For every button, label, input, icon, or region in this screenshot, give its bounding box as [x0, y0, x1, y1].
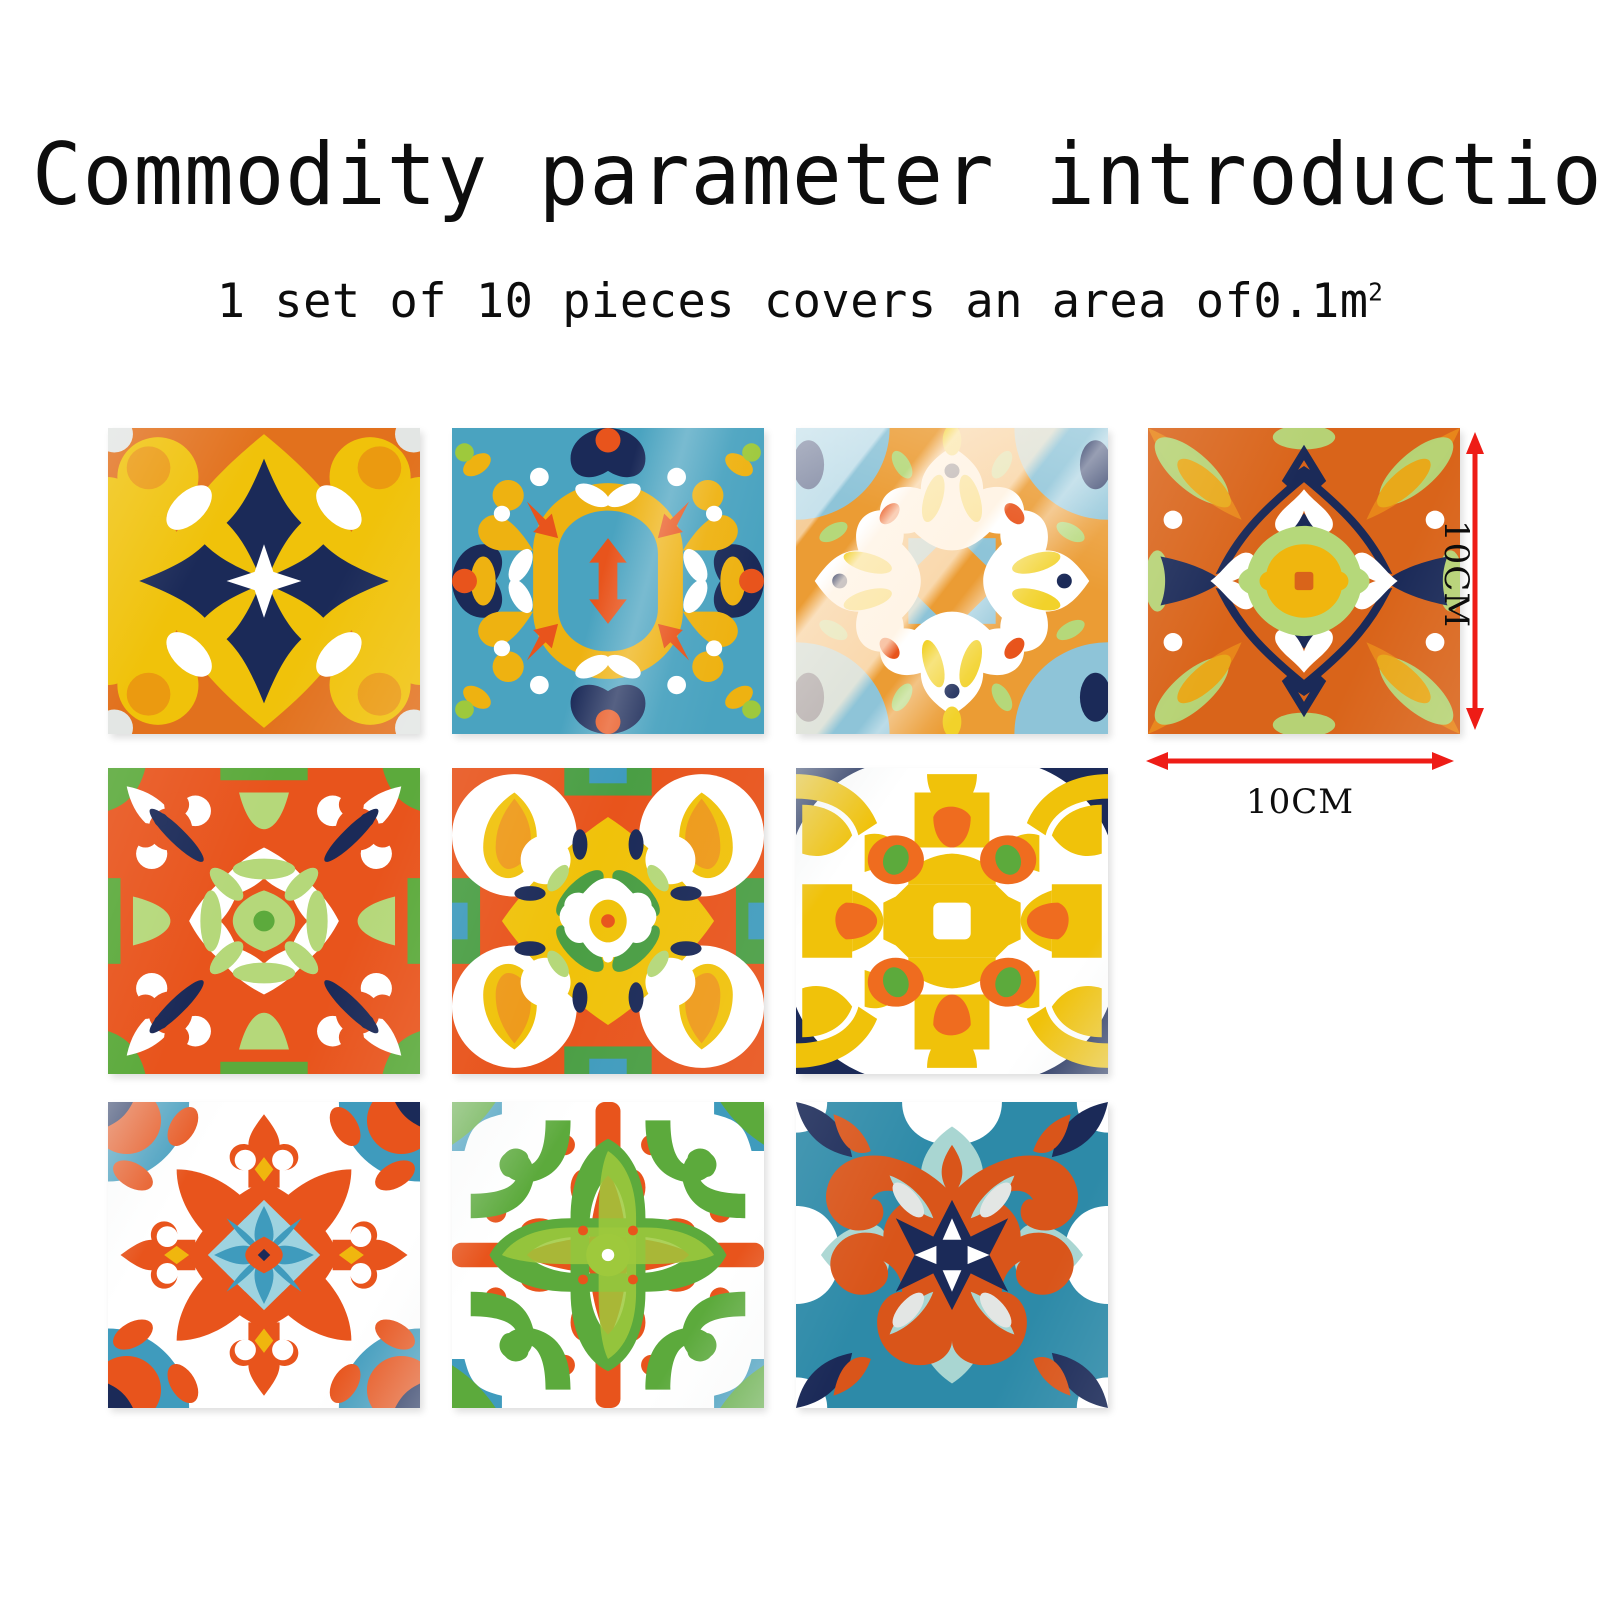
tile-pattern-yellow-diamond-rosette	[452, 768, 764, 1074]
tile-swatch-6[interactable]	[452, 768, 764, 1074]
tile-pattern-yellow-square-dots	[796, 768, 1108, 1074]
tile-swatch-5[interactable]	[108, 768, 420, 1074]
tile-pattern-green-scroll-cross	[452, 1102, 764, 1408]
page-title: Commodity parameter introduction	[32, 132, 1568, 218]
dimension-label-width: 10CM	[1146, 782, 1454, 822]
tile-pattern-navy-diamond-star	[108, 428, 420, 734]
tile-pattern-orange-green-lace	[108, 768, 420, 1074]
dimension-arrow-horizontal	[1146, 748, 1454, 774]
subtitle-exponent: 2	[1368, 277, 1383, 306]
tile-swatch-8[interactable]	[108, 1102, 420, 1408]
tile-pattern-white-floral-cross	[796, 428, 1108, 734]
page-subtitle: 1 set of 10 pieces covers an area of0.1m…	[0, 278, 1600, 325]
tile-swatch-2[interactable]	[452, 428, 764, 734]
tile-swatch-4[interactable]	[1148, 428, 1460, 734]
tile-swatch-9[interactable]	[452, 1102, 764, 1408]
tile-pattern-green-rosette-on-orange	[1148, 428, 1460, 734]
tile-swatch-10[interactable]	[796, 1102, 1108, 1408]
dimension-label-height: 10CM	[1436, 520, 1476, 628]
tile-swatch-3[interactable]	[796, 428, 1108, 734]
tile-pattern-orange-scroll-medallion	[452, 428, 764, 734]
tile-pattern-orange-blue-starburst	[108, 1102, 420, 1408]
subtitle-prefix: 1 set of 10 pieces covers an area of	[217, 274, 1254, 329]
subtitle-value: 0.1	[1253, 274, 1339, 329]
subtitle-unit: m	[1340, 274, 1368, 329]
tile-swatch-1[interactable]	[108, 428, 420, 734]
tile-pattern-navy-star-teal-medallion	[796, 1102, 1108, 1408]
tile-swatch-7[interactable]	[796, 768, 1108, 1074]
tile-grid	[108, 428, 1460, 1440]
